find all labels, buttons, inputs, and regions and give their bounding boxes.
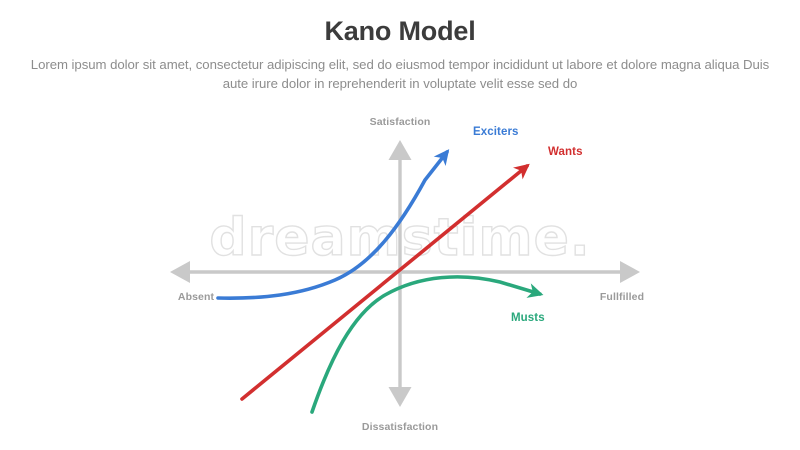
axis-label-dissatisfaction: Dissatisfaction	[362, 421, 438, 433]
axis-group	[170, 140, 640, 407]
curve-musts	[312, 277, 540, 412]
y-axis-up-arrowhead	[389, 140, 412, 160]
curve-label-exciters: Exciters	[473, 126, 519, 138]
x-axis-left-arrowhead	[170, 261, 190, 283]
curve-label-musts: Musts	[511, 312, 545, 324]
curve-wants	[242, 166, 527, 399]
axis-label-satisfaction: Satisfaction	[370, 116, 431, 128]
kano-diagram-svg	[0, 0, 800, 450]
curve-exciters	[218, 152, 447, 298]
kano-model-infographic: Kano Model Lorem ipsum dolor sit amet, c…	[0, 0, 800, 450]
kano-diagram: Satisfaction Dissatisfaction Absent Full…	[0, 0, 800, 450]
x-axis-right-arrowhead	[620, 261, 640, 283]
axis-label-absent: Absent	[178, 291, 214, 303]
y-axis-down-arrowhead	[389, 387, 412, 407]
axis-label-fulfilled: Fullfilled	[600, 291, 644, 303]
curve-label-wants: Wants	[548, 146, 583, 158]
